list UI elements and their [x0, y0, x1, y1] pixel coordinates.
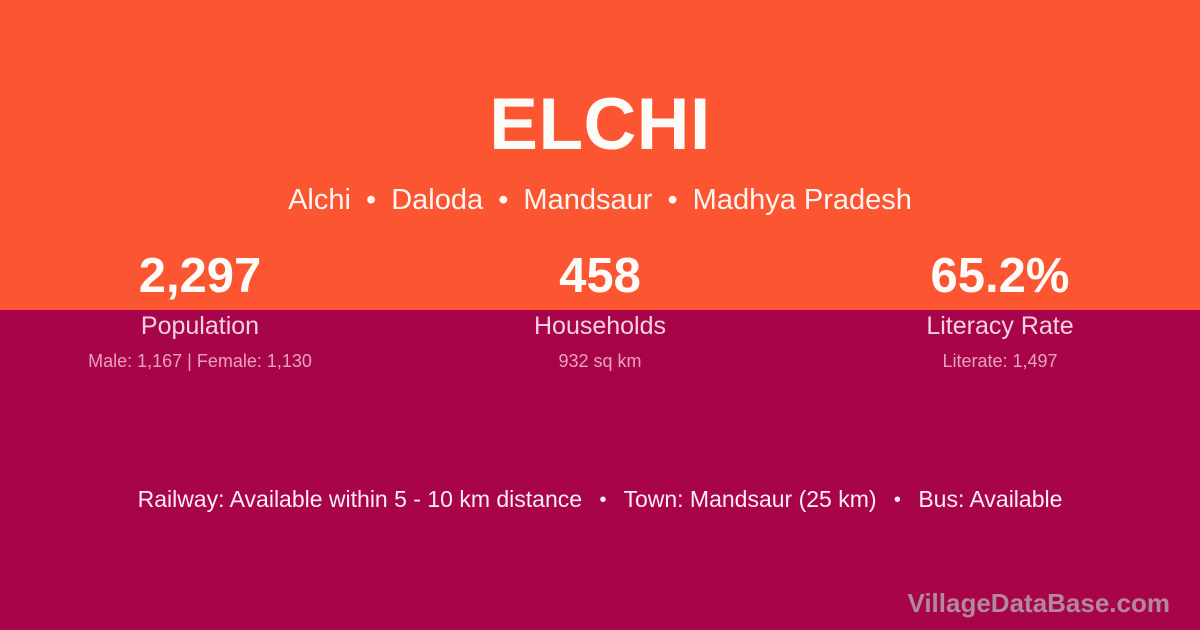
village-info-card: ELCHI Alchi • Daloda • Mandsaur • Madhya… [0, 0, 1200, 630]
breadcrumb-part-block: Daloda [391, 184, 483, 216]
amenities-line: Railway: Available within 5 - 10 km dist… [0, 483, 1200, 517]
breadcrumb-part-district: Mandsaur [523, 184, 652, 216]
stats-row: 2,297 Population Male: 1,167 | Female: 1… [0, 246, 1200, 372]
stat-value: 65.2% [800, 246, 1200, 306]
stat-detail: Male: 1,167 | Female: 1,130 [0, 350, 400, 372]
amenity-town: Town: Mandsaur (25 km) [623, 486, 876, 512]
stat-value: 458 [400, 246, 800, 306]
breadcrumb-separator-icon: • [660, 180, 684, 220]
stat-detail: 932 sq km [400, 350, 800, 372]
breadcrumb-part-state: Madhya Pradesh [693, 184, 912, 216]
breadcrumb-part-village: Alchi [288, 184, 351, 216]
stat-value: 2,297 [0, 246, 400, 306]
amenity-separator-icon: • [883, 484, 912, 517]
amenity-bus: Bus: Available [918, 486, 1062, 512]
stat-label: Literacy Rate [800, 311, 1200, 341]
page-title: ELCHI [0, 80, 1200, 170]
stat-label: Households [400, 311, 800, 341]
stat-households: 458 Households 932 sq km [400, 246, 800, 372]
stat-literacy-rate: 65.2% Literacy Rate Literate: 1,497 [800, 246, 1200, 372]
stat-detail: Literate: 1,497 [800, 350, 1200, 372]
breadcrumb: Alchi • Daloda • Mandsaur • Madhya Prade… [0, 180, 1200, 220]
amenity-railway: Railway: Available within 5 - 10 km dist… [138, 486, 582, 512]
stat-label: Population [0, 311, 400, 341]
site-brand: VillageDataBase.com [907, 586, 1170, 620]
breadcrumb-separator-icon: • [491, 180, 515, 220]
breadcrumb-separator-icon: • [359, 180, 383, 220]
amenity-separator-icon: • [588, 484, 617, 517]
stat-population: 2,297 Population Male: 1,167 | Female: 1… [0, 246, 400, 372]
